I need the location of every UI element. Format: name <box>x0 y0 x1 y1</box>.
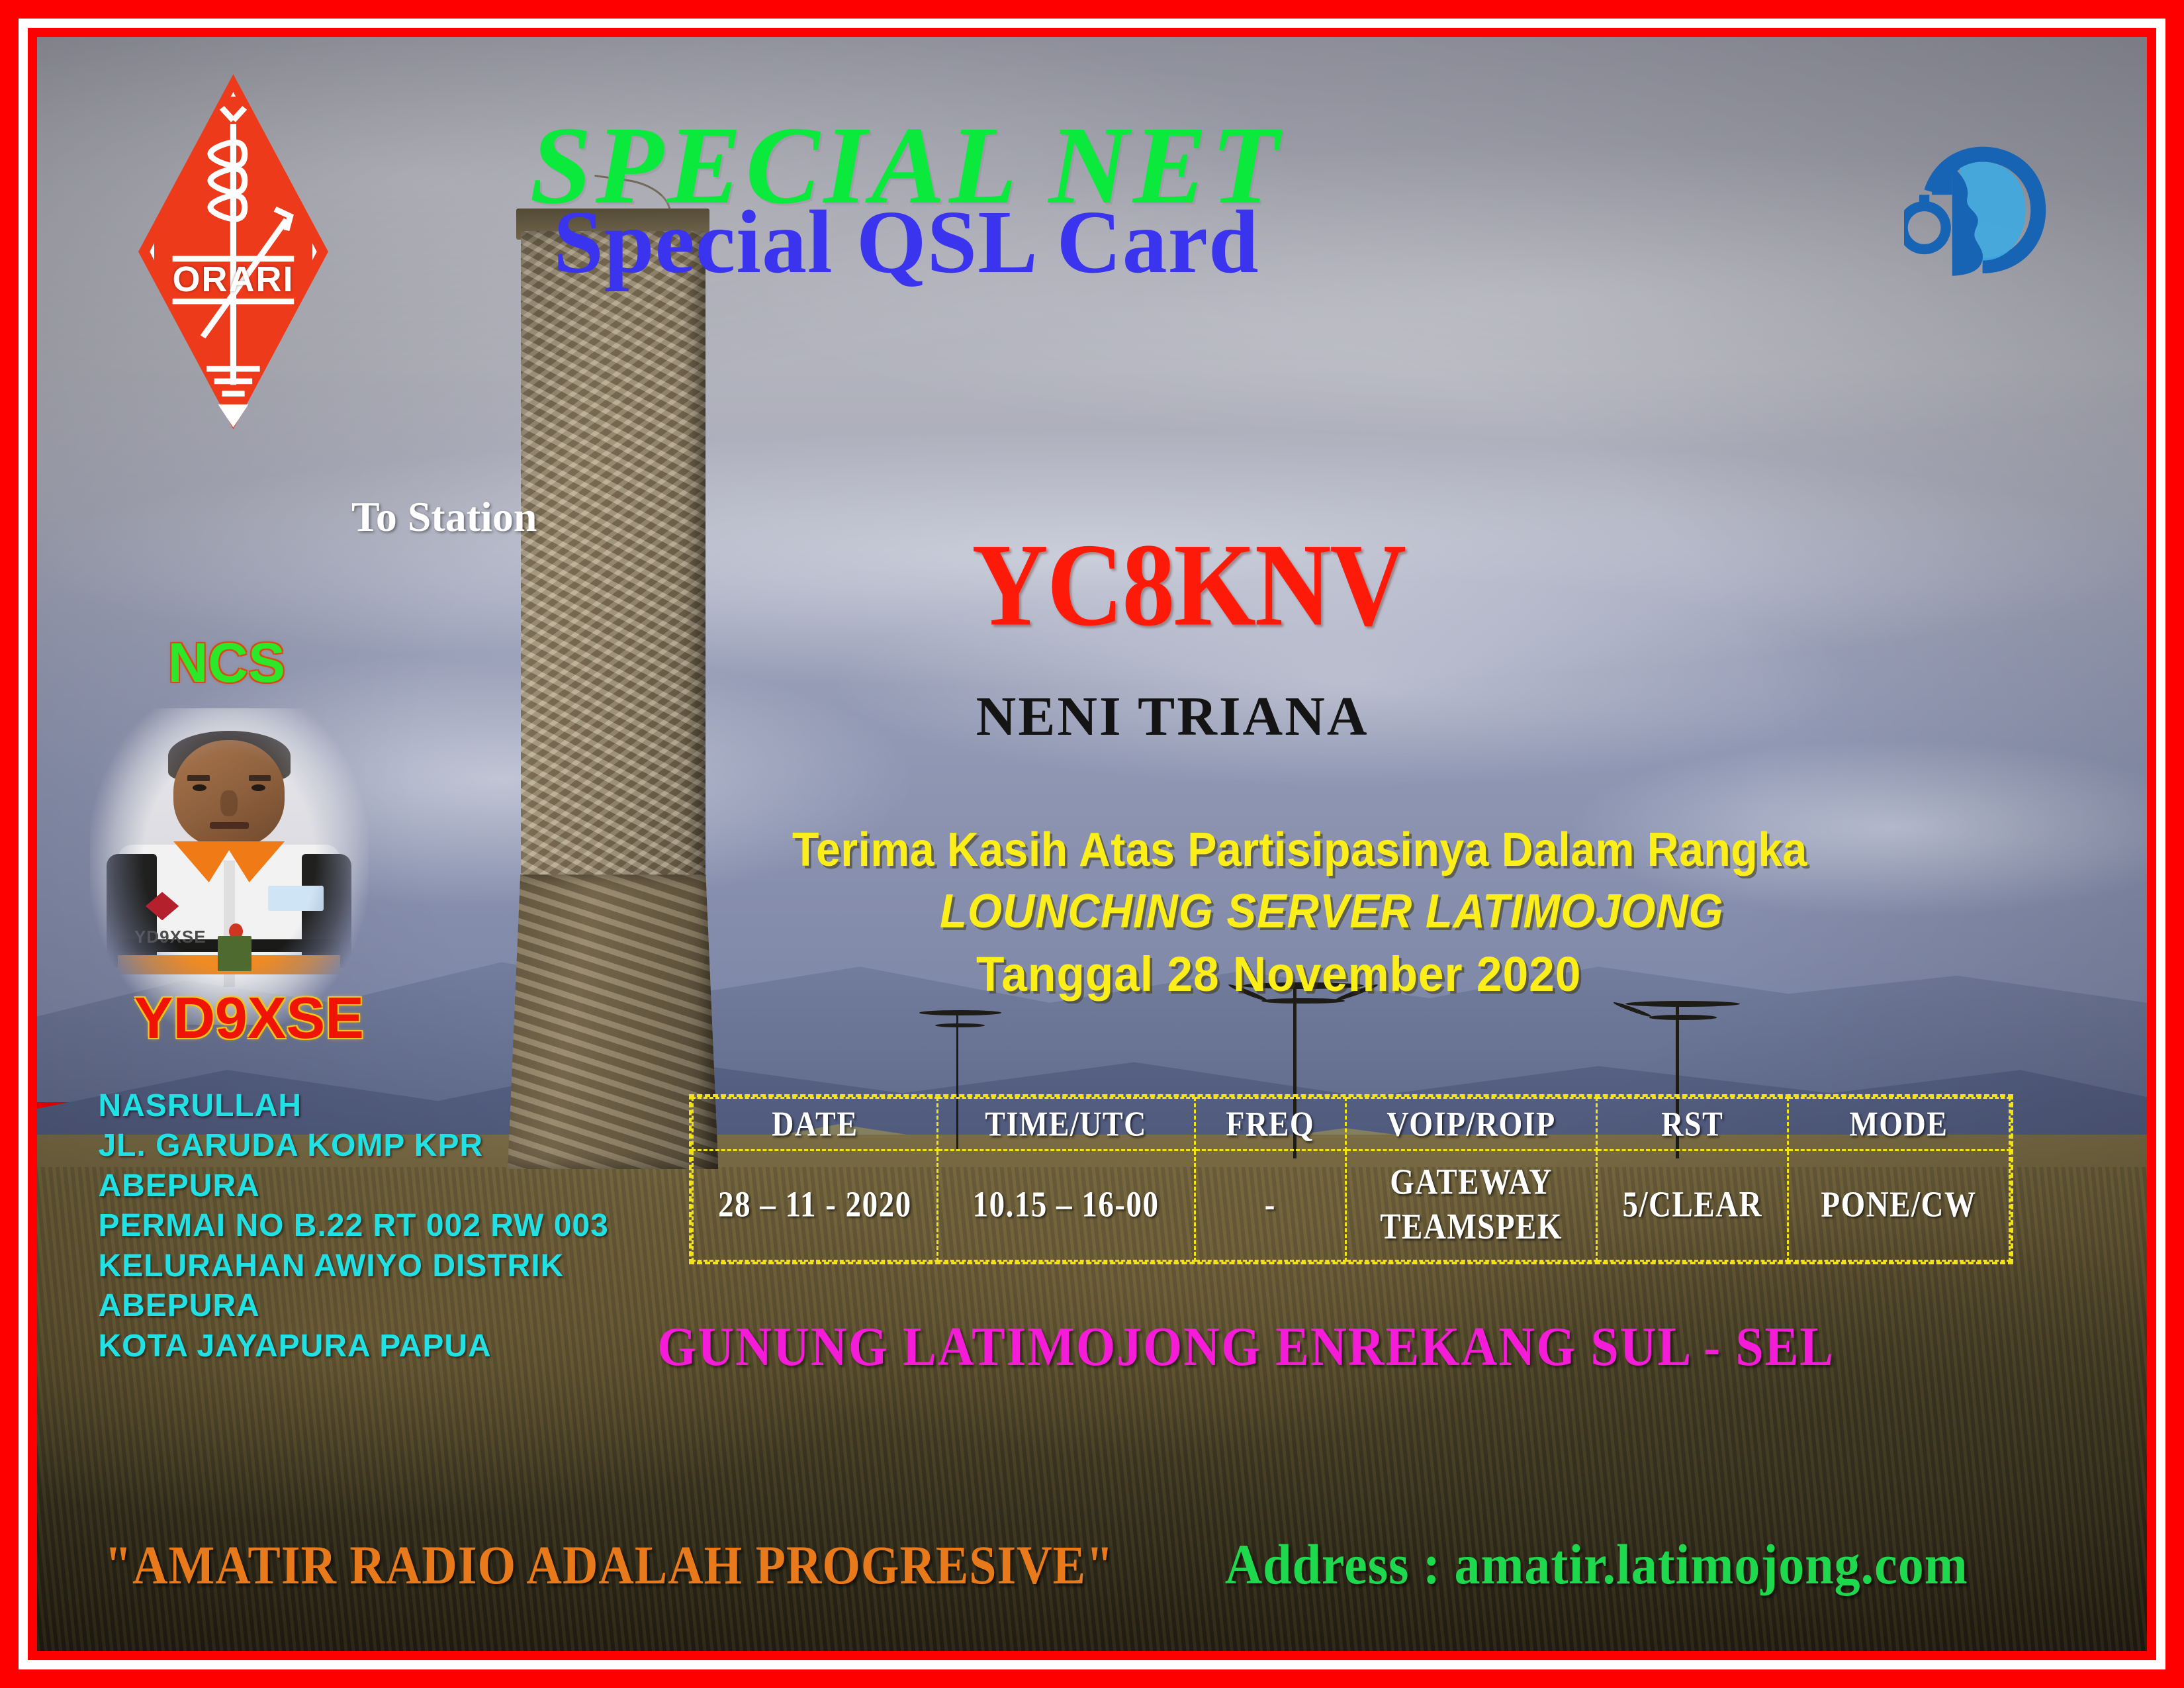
photo-mouth <box>210 822 249 829</box>
event-date-line: Tanggal 28 November 2020 <box>976 946 1581 1002</box>
event-title-line: LOUNCHING SERVER LATIMOJONG <box>940 884 1724 939</box>
table-cell-mode: PONE/CW <box>1788 1141 2009 1269</box>
motto-text: "AMATIR RADIO ADALAH PROGRESIVE" <box>105 1534 1114 1597</box>
address-line: NASRULLAH <box>98 1086 608 1126</box>
location-caption: GUNUNG LATIMOJONG ENREKANG SUL - SEL <box>657 1315 1835 1379</box>
address-line: ABEPURA <box>98 1166 608 1206</box>
table-row: 28 – 11 - 2020 10.15 – 16-00 - GATEWAY T… <box>693 1150 2010 1260</box>
operator-name: NENI TRIANA <box>976 684 1369 749</box>
table-cell-voip-line1: GATEWAY <box>1347 1160 1595 1205</box>
table-cell-time: 10.15 – 16-00 <box>937 1141 1195 1269</box>
table-cell-voip-line2: TEAMSPEK <box>1347 1205 1595 1250</box>
photo-club-badge <box>268 886 324 911</box>
photo-eyebrow-right <box>249 775 271 782</box>
to-station-label: To Station <box>351 492 537 541</box>
table-cell-voip: GATEWAY TEAMSPEK <box>1345 1141 1596 1269</box>
address-line: PERMAI NO B.22 RT 002 RW 003 <box>98 1206 608 1246</box>
headset-profile-logo <box>1904 73 2056 347</box>
qso-table: DATE TIME/UTC FREQ VOIP/ROIP RST MODE 28… <box>689 1094 2013 1264</box>
station-callsign: YC8KNV <box>972 516 1405 653</box>
web-address: Address : amatir.latimojong.com <box>1225 1532 1968 1597</box>
photo-shirt-callsign: YD9XSE <box>134 927 206 947</box>
address-line: KOTA JAYAPURA PAPUA <box>98 1327 608 1366</box>
page-subtitle: Special QSL Card <box>252 191 1561 294</box>
address-block: NASRULLAH JL. GARUDA KOMP KPR ABEPURA PE… <box>98 1086 608 1366</box>
card-inner-red-border: ORARI SPECIAL NET Special QSL Card <box>28 28 2156 1660</box>
ncs-label: NCS <box>168 631 285 695</box>
address-line: KELURAHAN AWIYO DISTRIK <box>98 1246 608 1286</box>
address-line: JL. GARUDA KOMP KPR <box>98 1126 608 1166</box>
card-photo-area: ORARI SPECIAL NET Special QSL Card <box>37 37 2147 1651</box>
photo-eyebrow-left <box>187 775 210 782</box>
ncs-operator-photo: YD9XSE <box>90 708 369 1025</box>
photo-id-card <box>218 936 251 971</box>
photo-nose <box>220 790 237 816</box>
table-cell-freq: - <box>1195 1141 1345 1269</box>
event-thanks-line: Terima Kasih Atas Partisipasinya Dalam R… <box>792 823 1807 877</box>
ncs-callsign: YD9XSE <box>134 984 364 1052</box>
table-cell-rst: 5/CLEAR <box>1597 1141 1788 1269</box>
address-line: ABEPURA <box>98 1286 608 1326</box>
table-cell-date: 28 – 11 - 2020 <box>693 1141 937 1269</box>
card-white-gap: ORARI SPECIAL NET Special QSL Card <box>19 19 2165 1669</box>
qsl-card: ORARI SPECIAL NET Special QSL Card <box>0 0 2184 1688</box>
headset-icon <box>1904 73 2056 347</box>
